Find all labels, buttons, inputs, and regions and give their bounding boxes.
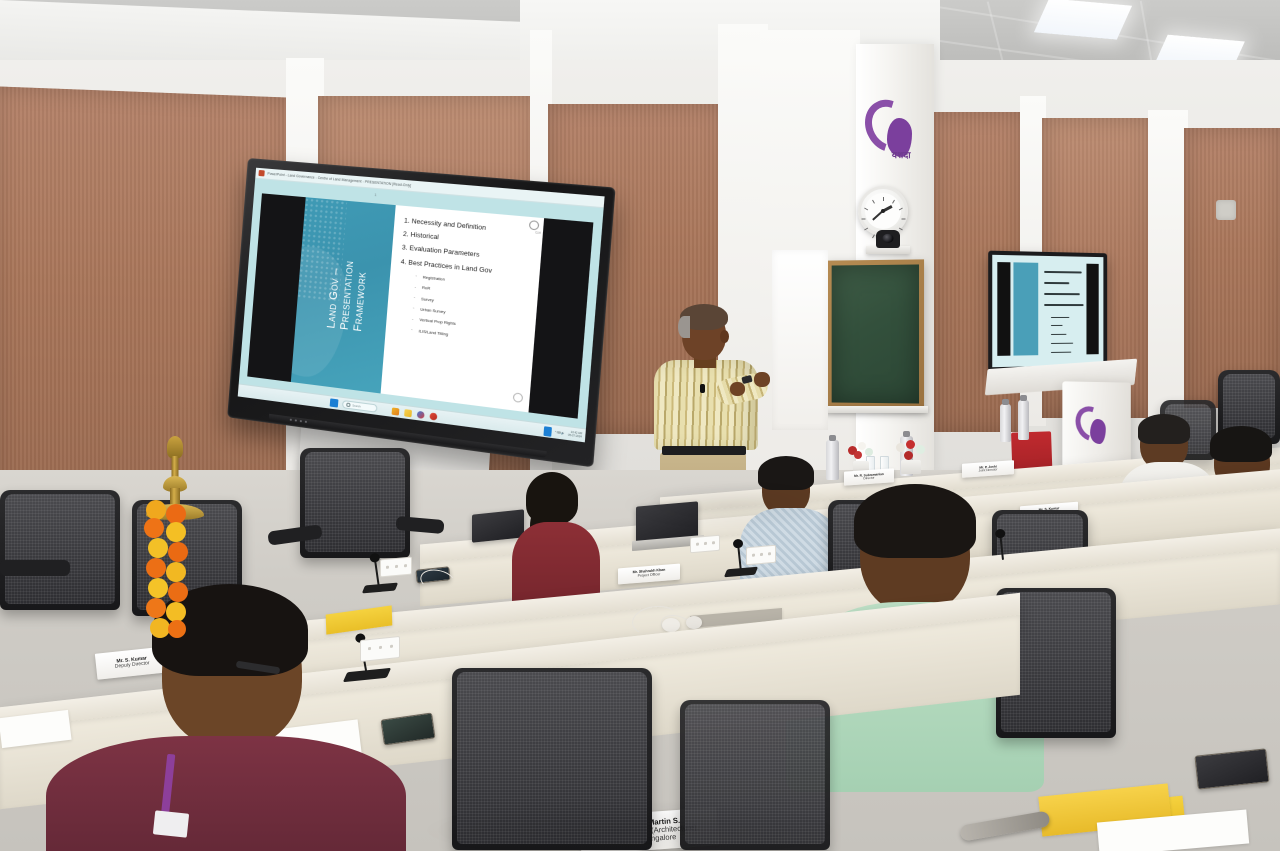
- greenboard: [827, 259, 924, 408]
- board-tray: [822, 406, 928, 413]
- room-scene: यशदा: [0, 0, 1280, 851]
- chair[interactable]: [0, 490, 120, 610]
- wall-speaker: [1216, 200, 1236, 220]
- earbud-case: [662, 618, 680, 632]
- slide-page-number: 1: [374, 192, 377, 197]
- app-icon-explorer[interactable]: [392, 407, 400, 415]
- wall-clock: [858, 186, 908, 236]
- marigold-garland: [142, 500, 208, 640]
- power-outlet[interactable]: [690, 535, 720, 554]
- app-icon-powerpoint-active[interactable]: [543, 426, 552, 437]
- institute-logo: यशदा: [862, 96, 924, 162]
- taskbar-clock[interactable]: 10:42 AM 05-07-2024: [568, 430, 582, 438]
- attendee-front-left: [56, 596, 396, 851]
- earbud-case: [686, 616, 702, 629]
- power-outlet[interactable]: [746, 545, 776, 566]
- shadow: [620, 480, 840, 530]
- start-button-icon[interactable]: [330, 398, 339, 407]
- chair[interactable]: [300, 448, 410, 558]
- namecard-sub: Project Officer: [638, 573, 661, 579]
- display-screen[interactable]: PowerPoint - Land Governance - Centre of…: [238, 168, 605, 443]
- institute-logo-text: यशदा: [892, 148, 911, 161]
- interactive-flat-panel-display[interactable]: PowerPoint - Land Governance - Centre of…: [227, 158, 615, 467]
- slide-sub-list: Registration RoR Survey Urban Survey Ver…: [411, 273, 533, 345]
- taskbar-date: 05-07-2024: [568, 434, 582, 439]
- water-bottle: [1000, 404, 1011, 442]
- search-placeholder: Search: [352, 404, 361, 408]
- water-bottle: [1018, 400, 1029, 440]
- powerpoint-icon: [258, 170, 264, 176]
- whiteboard: [772, 250, 828, 430]
- confidence-monitor[interactable]: [988, 251, 1107, 372]
- flower-arrangement: [894, 440, 928, 474]
- search-input[interactable]: Search: [342, 400, 378, 413]
- search-icon: [347, 403, 351, 407]
- slide-vertical-title: Land Gov – Presentation Framework: [325, 258, 370, 332]
- shadow: [420, 800, 840, 851]
- id-badge: [153, 810, 189, 837]
- taskbar-system-tray[interactable]: ^ ⌨ 🔊 10:42 AM 05-07-2024: [543, 426, 585, 441]
- wall-strip: [1148, 110, 1188, 430]
- wall-panel-right-3: [1184, 128, 1280, 408]
- power-outlet[interactable]: [380, 557, 412, 578]
- app-icon-office[interactable]: [430, 412, 438, 420]
- slide-content-panel: CLM 1. Necessity and Definition 2. Histo…: [381, 205, 544, 412]
- attendee-mid-left: [508, 474, 598, 604]
- namecard-sub: Joint Director: [979, 468, 998, 473]
- chair-armrest: [0, 560, 70, 576]
- slide-corner-logo-label: CLM: [535, 231, 541, 235]
- lectern-logo-icon: [1074, 404, 1113, 448]
- namecard-sub: Director: [863, 477, 874, 481]
- slide-corner-logo-icon: [529, 220, 540, 230]
- lapel-mic: [700, 384, 705, 393]
- ptz-camera-icon: [876, 230, 900, 248]
- taskbar-tray-icons[interactable]: ^ ⌨ 🔊: [555, 430, 565, 435]
- slide-brand-mark-icon: [513, 392, 524, 403]
- app-icon-folder[interactable]: [405, 409, 413, 417]
- slide-title-line-1: Land Gov –: [325, 267, 342, 329]
- app-icon-browser[interactable]: [417, 410, 425, 418]
- slide: Land Gov – Presentation Framework CLM 1.…: [291, 197, 544, 412]
- taskbar-app-icons[interactable]: [392, 407, 438, 420]
- slide-title-panel: Land Gov – Presentation Framework: [291, 197, 396, 393]
